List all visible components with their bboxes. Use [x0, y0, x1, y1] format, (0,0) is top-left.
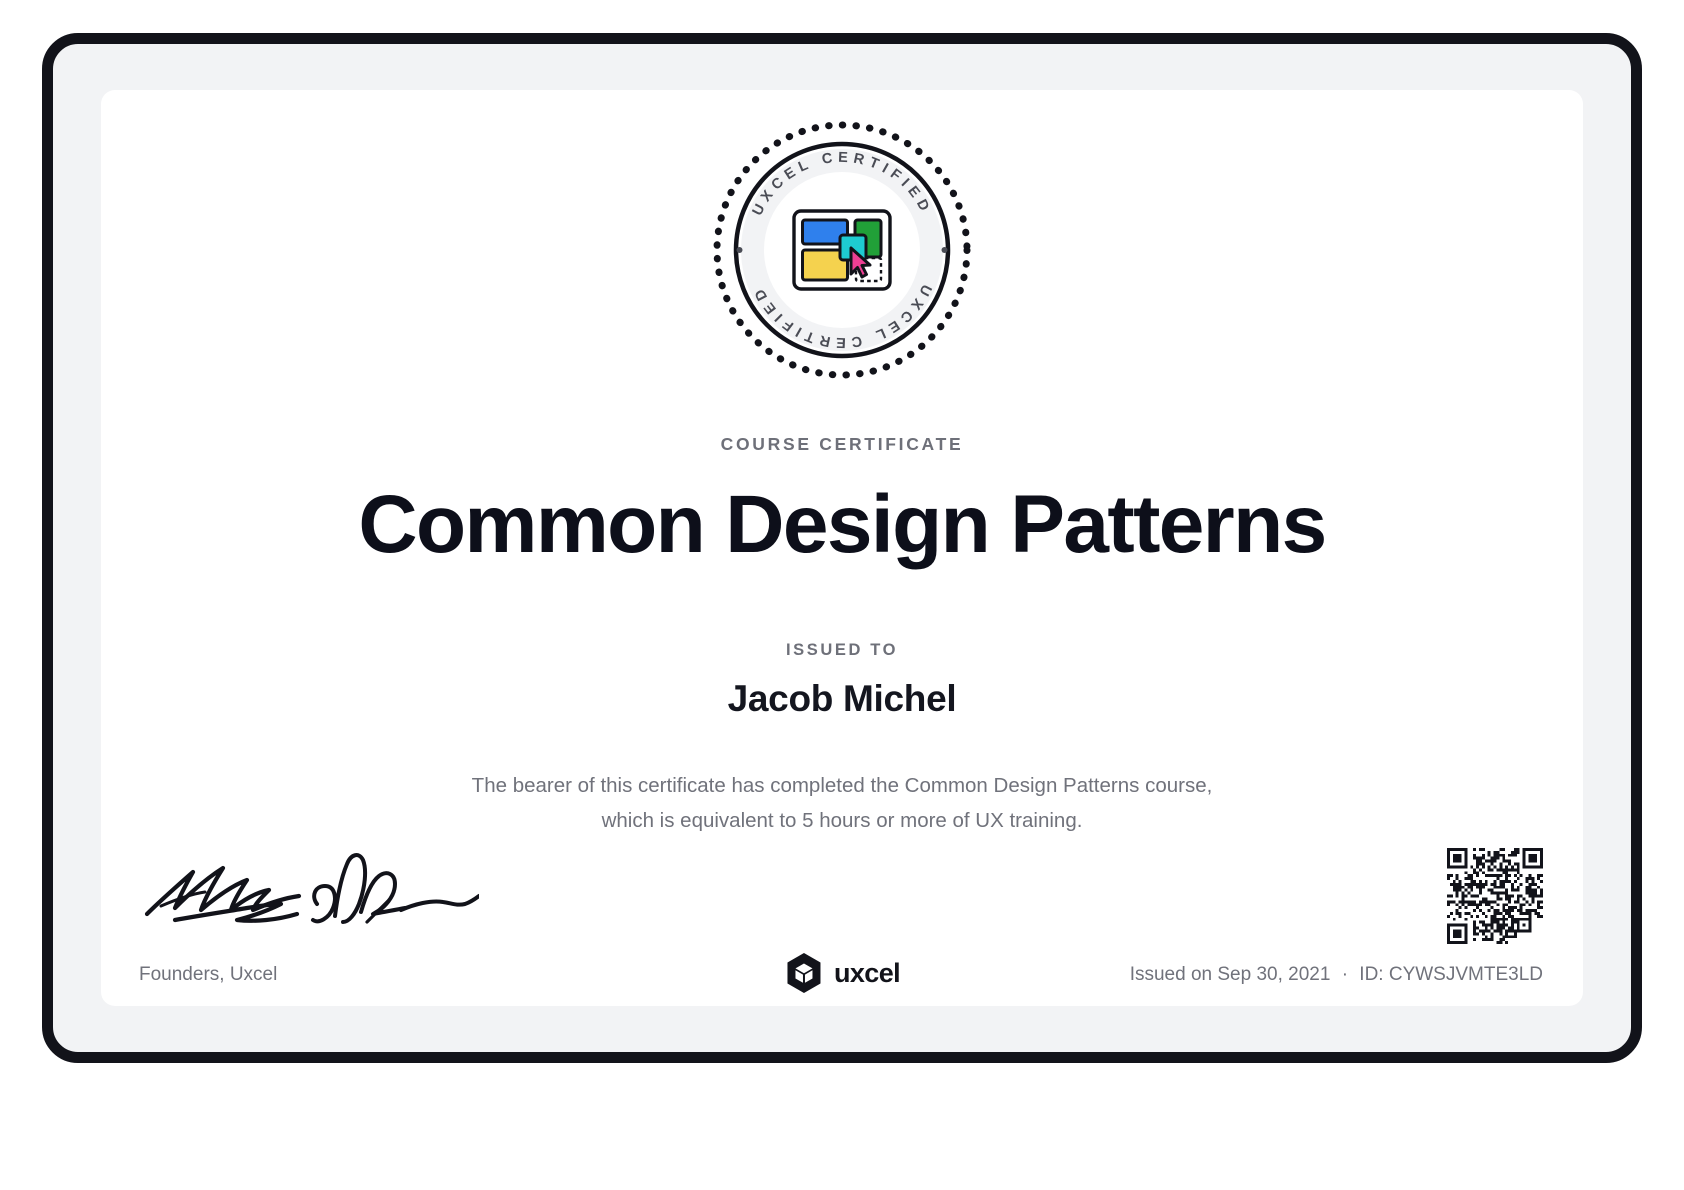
uxcel-logo: uxcel: [784, 952, 900, 994]
recipient-name: Jacob Michel: [101, 678, 1583, 720]
certificate-meta: Issued on Sep 30, 2021 · ID: CYWSJVMTE3L…: [1130, 964, 1543, 986]
seal-graphic: UXCEL CERTIFIED UXCEL CERTIFIED: [710, 118, 974, 382]
founder-signatures: [139, 842, 479, 932]
certificate-frame: UXCEL CERTIFIED UXCEL CERTIFIED: [42, 33, 1642, 1063]
uxcel-wordmark: uxcel: [834, 958, 900, 989]
signature-caption: Founders, Uxcel: [139, 964, 277, 986]
uxcel-hexagon-icon: [784, 952, 824, 994]
ui-layout-mockup-icon: [794, 211, 890, 289]
qr-code-icon: [1447, 848, 1543, 944]
certificate-card: UXCEL CERTIFIED UXCEL CERTIFIED: [101, 90, 1583, 1006]
certificate-eyebrow: COURSE CERTIFICATE: [101, 434, 1583, 455]
issued-to-label: ISSUED TO: [101, 641, 1583, 660]
certificate-id: ID: CYWSJVMTE3LD: [1359, 964, 1543, 985]
certificate-qr-code[interactable]: [1447, 848, 1543, 944]
meta-separator: ·: [1336, 964, 1354, 985]
seal-bullet-right: [942, 247, 948, 253]
seal-bullet-left: [737, 247, 743, 253]
certificate-description: The bearer of this certificate has compl…: [462, 768, 1222, 838]
course-title: Common Design Patterns: [101, 475, 1583, 575]
signature-graphic: [139, 842, 479, 932]
certification-seal: UXCEL CERTIFIED UXCEL CERTIFIED: [710, 118, 974, 382]
issued-date: Issued on Sep 30, 2021: [1130, 964, 1331, 985]
